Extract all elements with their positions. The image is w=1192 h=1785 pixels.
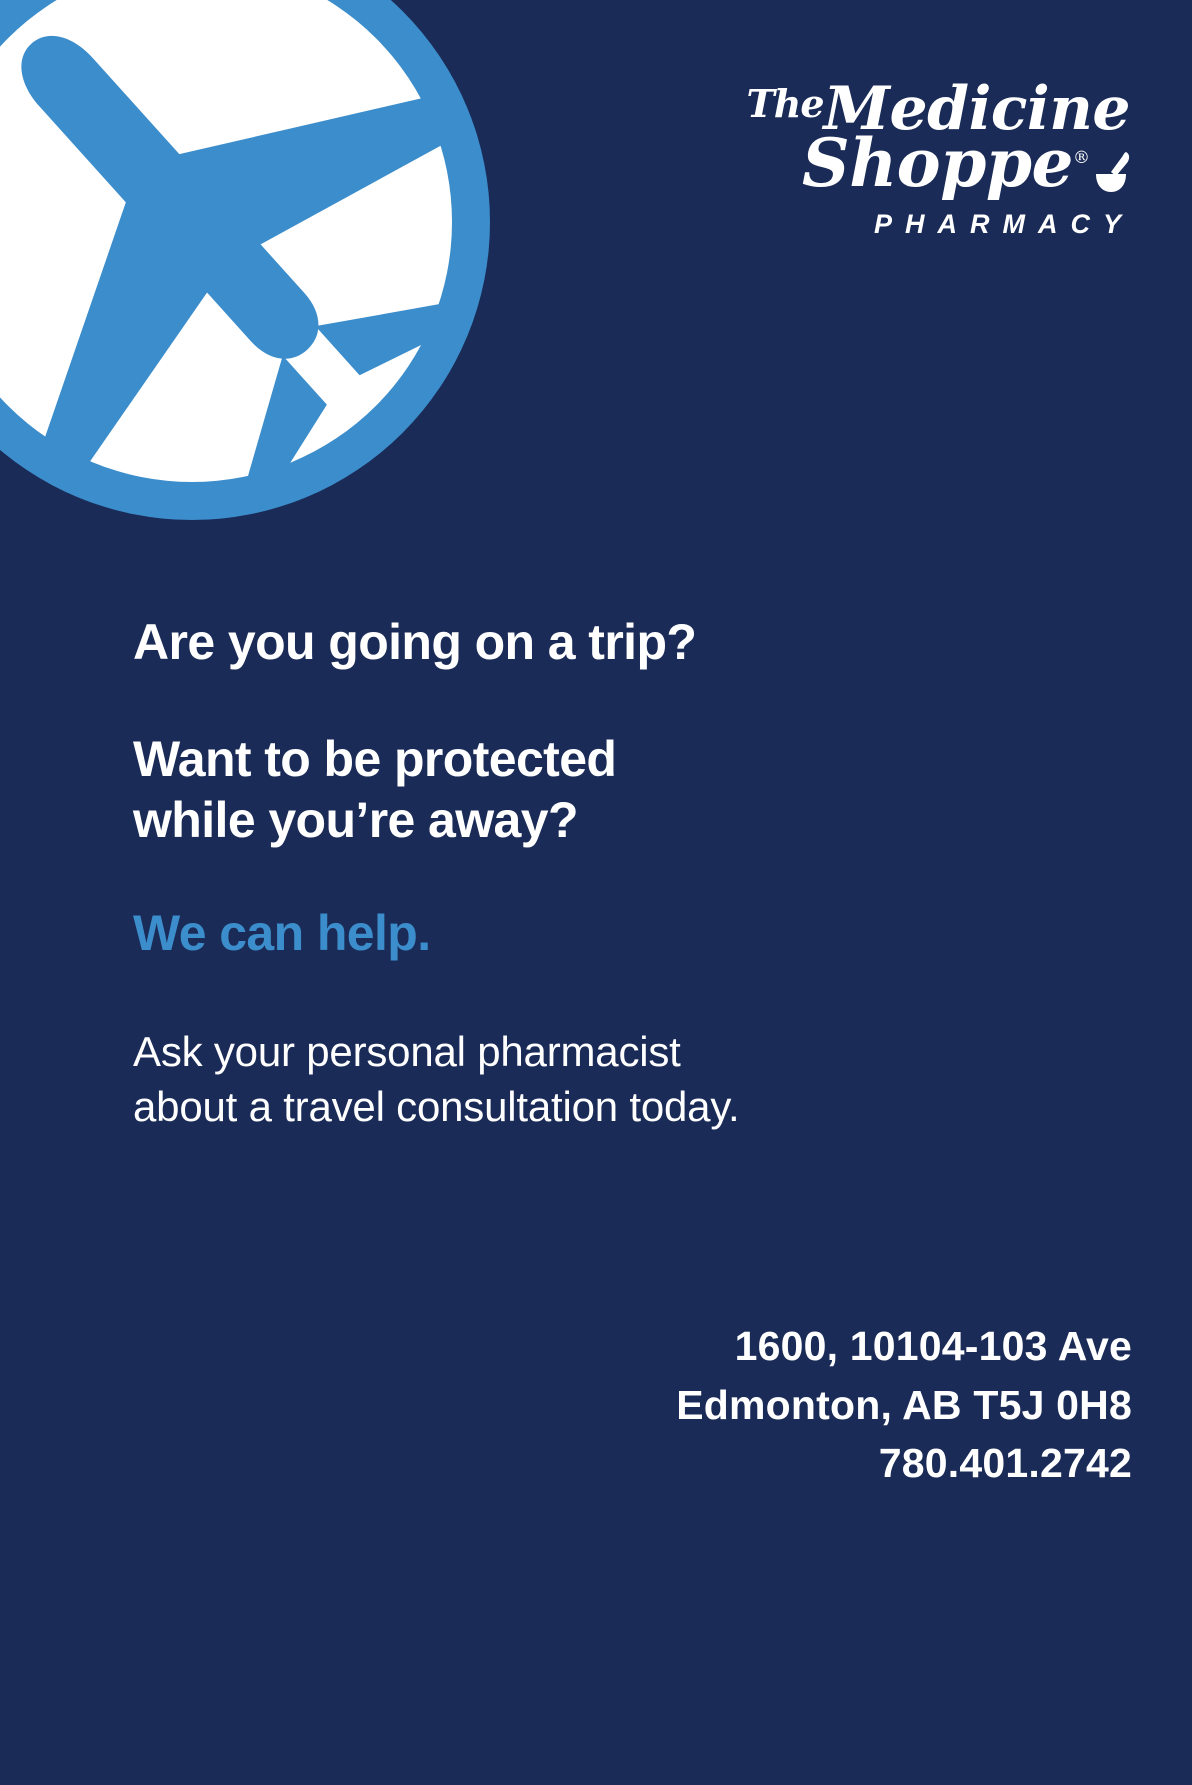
address-street: 1600, 10104-103 Ave [676, 1317, 1132, 1375]
poster-canvas: TheMedicine Shoppe® PHARMACY Are you goi… [0, 0, 1192, 1785]
headline-secondary-line-1: Want to be protected [133, 731, 616, 787]
airplane-badge [0, 0, 502, 532]
address-block: 1600, 10104-103 Ave Edmonton, AB T5J 0H8… [676, 1317, 1132, 1492]
body-copy-line-2: about a travel consultation today. [133, 1083, 740, 1130]
body-copy: Ask your personal pharmacistabout a trav… [133, 1024, 1013, 1135]
brand-logo: TheMedicine Shoppe® PHARMACY [714, 82, 1134, 237]
body-copy-line-1: Ask your personal pharmacist [133, 1028, 681, 1075]
logo-line-shoppe: Shoppe® [714, 133, 1134, 194]
logo-shoppe: Shoppe [802, 124, 1073, 202]
logo-the: The [746, 81, 823, 126]
address-city: Edmonton, AB T5J 0H8 [676, 1376, 1132, 1434]
headline-primary: Are you going on a trip? [133, 612, 1013, 673]
logo-pharmacy: PHARMACY [714, 212, 1134, 237]
airplane-icon [0, 0, 502, 532]
logo-wordmark: TheMedicine Shoppe® PHARMACY [714, 82, 1134, 237]
registered-mark: ® [1073, 148, 1090, 168]
copy-block: Are you going on a trip? Want to be prot… [133, 612, 1013, 1135]
phone-number[interactable]: 780.401.2742 [676, 1434, 1132, 1492]
headline-secondary-line-2: while you’re away? [133, 792, 578, 848]
tagline: We can help. [133, 903, 1013, 964]
mortar-pestle-icon [1092, 150, 1132, 194]
headline-secondary: Want to be protectedwhile you’re away? [133, 729, 1013, 851]
